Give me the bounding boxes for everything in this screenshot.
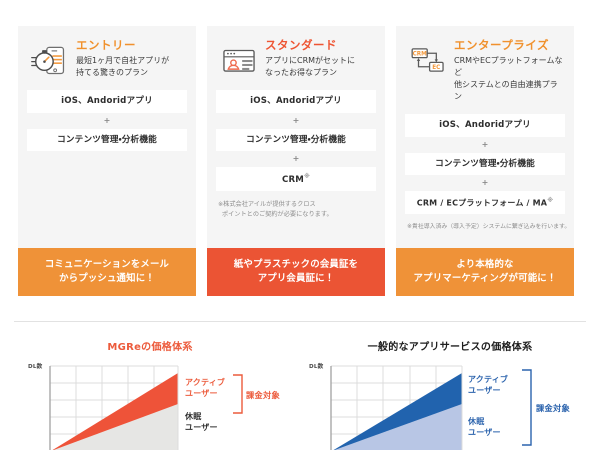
plan-feature-list: iOS、Andoridアプリ + コンテンツ管理・分析機能 + CRM※	[216, 90, 376, 191]
plan-banner-line1: より本格的な	[456, 259, 513, 270]
plan-feature: iOS、Andoridアプリ	[27, 90, 187, 112]
plus-separator: +	[405, 137, 565, 153]
plan-description: CRMやECプラットフォームなど 他システムとの自由連携プラン	[454, 55, 563, 103]
footnote-marker: ※	[304, 173, 310, 180]
plan-name: エントリー	[76, 39, 185, 52]
billing-target-label: 課金対象	[536, 402, 570, 414]
plan-header: エントリー 最短1ヶ月で自社アプリが 持てる驚きのプラン	[27, 39, 187, 79]
plan-titles: エントリー 最短1ヶ月で自社アプリが 持てる驚きのプラン	[76, 39, 185, 79]
plan-body: CRM EC エンタープライズ CRMやECプラットフォームなど 他システムとの…	[396, 26, 574, 248]
plan-body: エントリー 最短1ヶ月で自社アプリが 持てる驚きのプラン iOS、Andorid…	[18, 26, 196, 248]
legend-dormant-user: 休眠 ユーザー	[468, 417, 501, 439]
plan-footnote: ※株式会社アイルが提供するクロス ポイントとのご契約が必要になります。	[216, 200, 376, 219]
plan-description-line2: なったお得なプラン	[265, 68, 337, 77]
chart-general-pricing: 一般的なアプリサービスの価格体系 DL数 経過日数	[300, 332, 600, 450]
plan-banner-line2: アプリ会員証に！	[258, 273, 335, 284]
svg-text:CRM: CRM	[413, 51, 428, 57]
plan-banner-line1: コミュニケーションをメール	[45, 259, 169, 270]
plan-description-line1: 最短1ヶ月で自社アプリが	[76, 56, 169, 65]
spacer	[405, 232, 565, 238]
plan-header: CRM EC エンタープライズ CRMやECプラットフォームなど 他システムとの…	[405, 39, 565, 103]
plan-card-entry[interactable]: エントリー 最短1ヶ月で自社アプリが 持てる驚きのプラン iOS、Andorid…	[18, 26, 196, 296]
crm-ec-link-icon: CRM EC	[409, 41, 447, 79]
plan-description: 最短1ヶ月で自社アプリが 持てる驚きのプラン	[76, 55, 185, 79]
chart-svg	[0, 361, 300, 450]
plan-feature-label: CRM / ECプラットフォーム / MA	[417, 199, 547, 208]
plan-footnote-line1: ※株式会社アイルが提供するクロス	[218, 201, 316, 208]
plan-feature: CRM※	[216, 167, 376, 191]
plan-description-line1: アプリにCRMがセットに	[265, 56, 355, 65]
svg-text:EC: EC	[432, 65, 440, 71]
plus-separator: +	[405, 175, 565, 191]
plus-separator: +	[216, 151, 376, 167]
legend-dormant-user: 休眠 ユーザー	[185, 412, 218, 434]
plan-feature-list: iOS、Andoridアプリ + コンテンツ管理・分析機能	[27, 90, 187, 151]
plan-banner: コミュニケーションをメール からプッシュ通知に！	[18, 248, 196, 296]
plan-footnote-line1: ※貴社導入済み（導入予定）システムに繋ぎ込みを行います。	[407, 224, 570, 230]
legend-line1: アクティブ	[468, 375, 508, 384]
legend-active-user: アクティブ ユーザー	[185, 378, 225, 400]
plan-banner-line1: 紙やプラスチックの会員証を	[234, 259, 358, 270]
plan-feature: コンテンツ管理・分析機能	[27, 129, 187, 151]
plus-separator: +	[216, 113, 376, 129]
plan-feature: CRM / ECプラットフォーム / MA※	[405, 191, 565, 214]
plan-description: アプリにCRMがセットに なったお得なプラン	[265, 55, 374, 79]
plan-card-standard[interactable]: スタンダード アプリにCRMがセットに なったお得なプラン iOS、Andori…	[207, 26, 385, 296]
plan-name: エンタープライズ	[454, 39, 563, 52]
plan-titles: エンタープライズ CRMやECプラットフォームなど 他システムとの自由連携プラン	[454, 39, 563, 103]
plan-feature: コンテンツ管理・分析機能	[216, 129, 376, 151]
plan-feature: コンテンツ管理・分析機能	[405, 153, 565, 175]
plan-feature: iOS、Andoridアプリ	[405, 114, 565, 136]
legend-line2: ユーザー	[185, 389, 218, 398]
plan-cards-section: エントリー 最短1ヶ月で自社アプリが 持てる驚きのプラン iOS、Andorid…	[0, 0, 600, 296]
footnote-marker: ※	[547, 197, 553, 204]
browser-member-card-icon	[220, 41, 258, 79]
plan-header: スタンダード アプリにCRMがセットに なったお得なプラン	[216, 39, 376, 79]
legend-active-user: アクティブ ユーザー	[468, 375, 508, 397]
plan-feature-label: CRM	[282, 175, 304, 185]
plan-footnote-line2: ポイントとのご契約が必要になります。	[222, 211, 333, 218]
billing-target-label: 課金対象	[246, 389, 280, 401]
plus-separator: +	[27, 113, 187, 129]
charts-section: MGReの価格体系 DL数 経過日数	[0, 322, 600, 450]
chart-title: 一般的なアプリサービスの価格体系	[300, 338, 600, 353]
plan-banner: より本格的な アプリマーケティングが可能に！	[396, 248, 574, 296]
chart-mgre-pricing: MGReの価格体系 DL数 経過日数	[0, 332, 300, 450]
plan-name: スタンダード	[265, 39, 374, 52]
legend-line2: ユーザー	[468, 428, 501, 437]
legend-line2: ユーザー	[185, 423, 218, 432]
chart-title: MGReの価格体系	[0, 338, 300, 353]
plan-banner-line2: アプリマーケティングが可能に！	[414, 273, 557, 284]
chart-plot-area: DL数 経過日数	[0, 361, 300, 450]
spacer	[27, 151, 187, 238]
stopwatch-smartphone-icon	[31, 41, 69, 79]
plan-titles: スタンダード アプリにCRMがセットに なったお得なプラン	[265, 39, 374, 79]
legend-line2: ユーザー	[468, 386, 501, 395]
plan-card-enterprise[interactable]: CRM EC エンタープライズ CRMやECプラットフォームなど 他システムとの…	[396, 26, 574, 296]
plan-feature-list: iOS、Andoridアプリ + コンテンツ管理・分析機能 + CRM / EC…	[405, 114, 565, 214]
plan-feature: iOS、Andoridアプリ	[216, 90, 376, 112]
spacer	[216, 219, 376, 238]
legend-line1: 休眠	[185, 412, 201, 421]
legend-line1: 休眠	[468, 417, 484, 426]
plan-description-line1: CRMやECプラットフォームなど	[454, 56, 562, 77]
plan-body: スタンダード アプリにCRMがセットに なったお得なプラン iOS、Andori…	[207, 26, 385, 248]
plan-description-line2: 他システムとの自由連携プラン	[454, 80, 558, 101]
plan-banner-line2: からプッシュ通知に！	[59, 273, 155, 284]
plan-banner: 紙やプラスチックの会員証を アプリ会員証に！	[207, 248, 385, 296]
chart-plot-area: DL数 経過日数	[300, 361, 600, 450]
plan-description-line2: 持てる驚きのプラン	[76, 68, 148, 77]
legend-line1: アクティブ	[185, 378, 225, 387]
plan-footnote: ※貴社導入済み（導入予定）システムに繋ぎ込みを行います。	[405, 223, 565, 232]
